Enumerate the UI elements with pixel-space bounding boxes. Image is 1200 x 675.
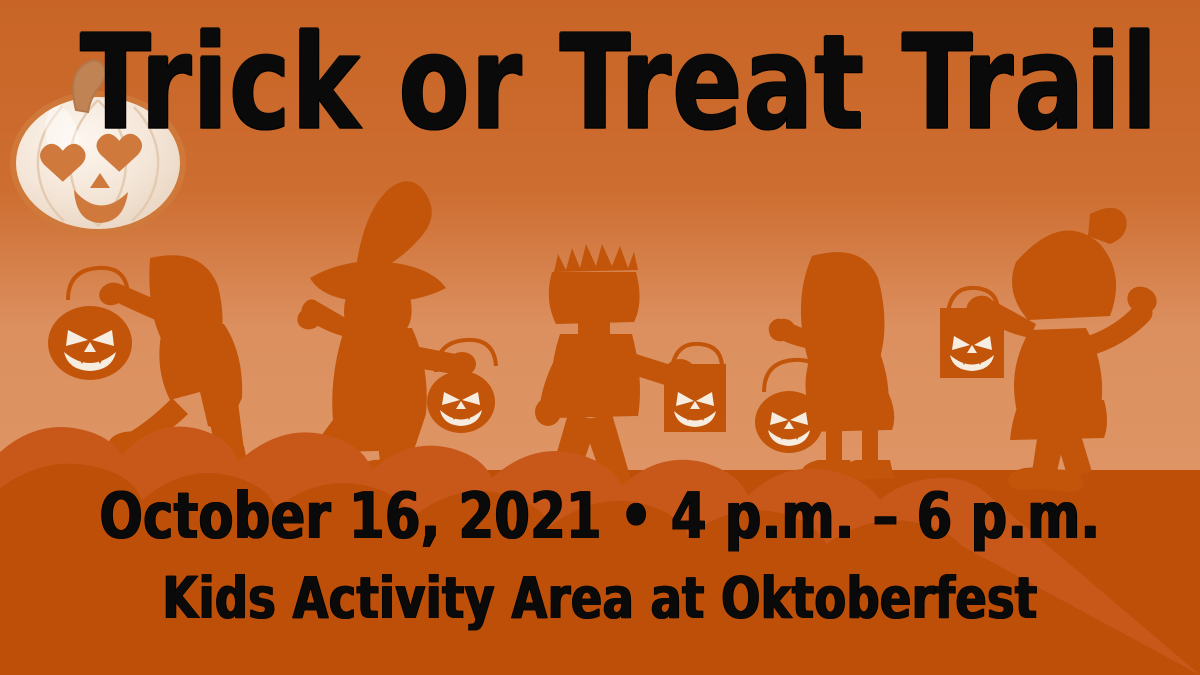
event-date-time: October 16, 2021 • 4 p.m. – 6 p.m. bbox=[36, 485, 1164, 549]
page-title: Trick or Treat Trail bbox=[24, 14, 1176, 152]
event-details: October 16, 2021 • 4 p.m. – 6 p.m. Kids … bbox=[0, 490, 1200, 623]
event-venue: Kids Activity Area at Oktoberfest bbox=[36, 570, 1164, 628]
halloween-event-poster: Trick or Treat Trail October 16, 2021 • … bbox=[0, 0, 1200, 675]
